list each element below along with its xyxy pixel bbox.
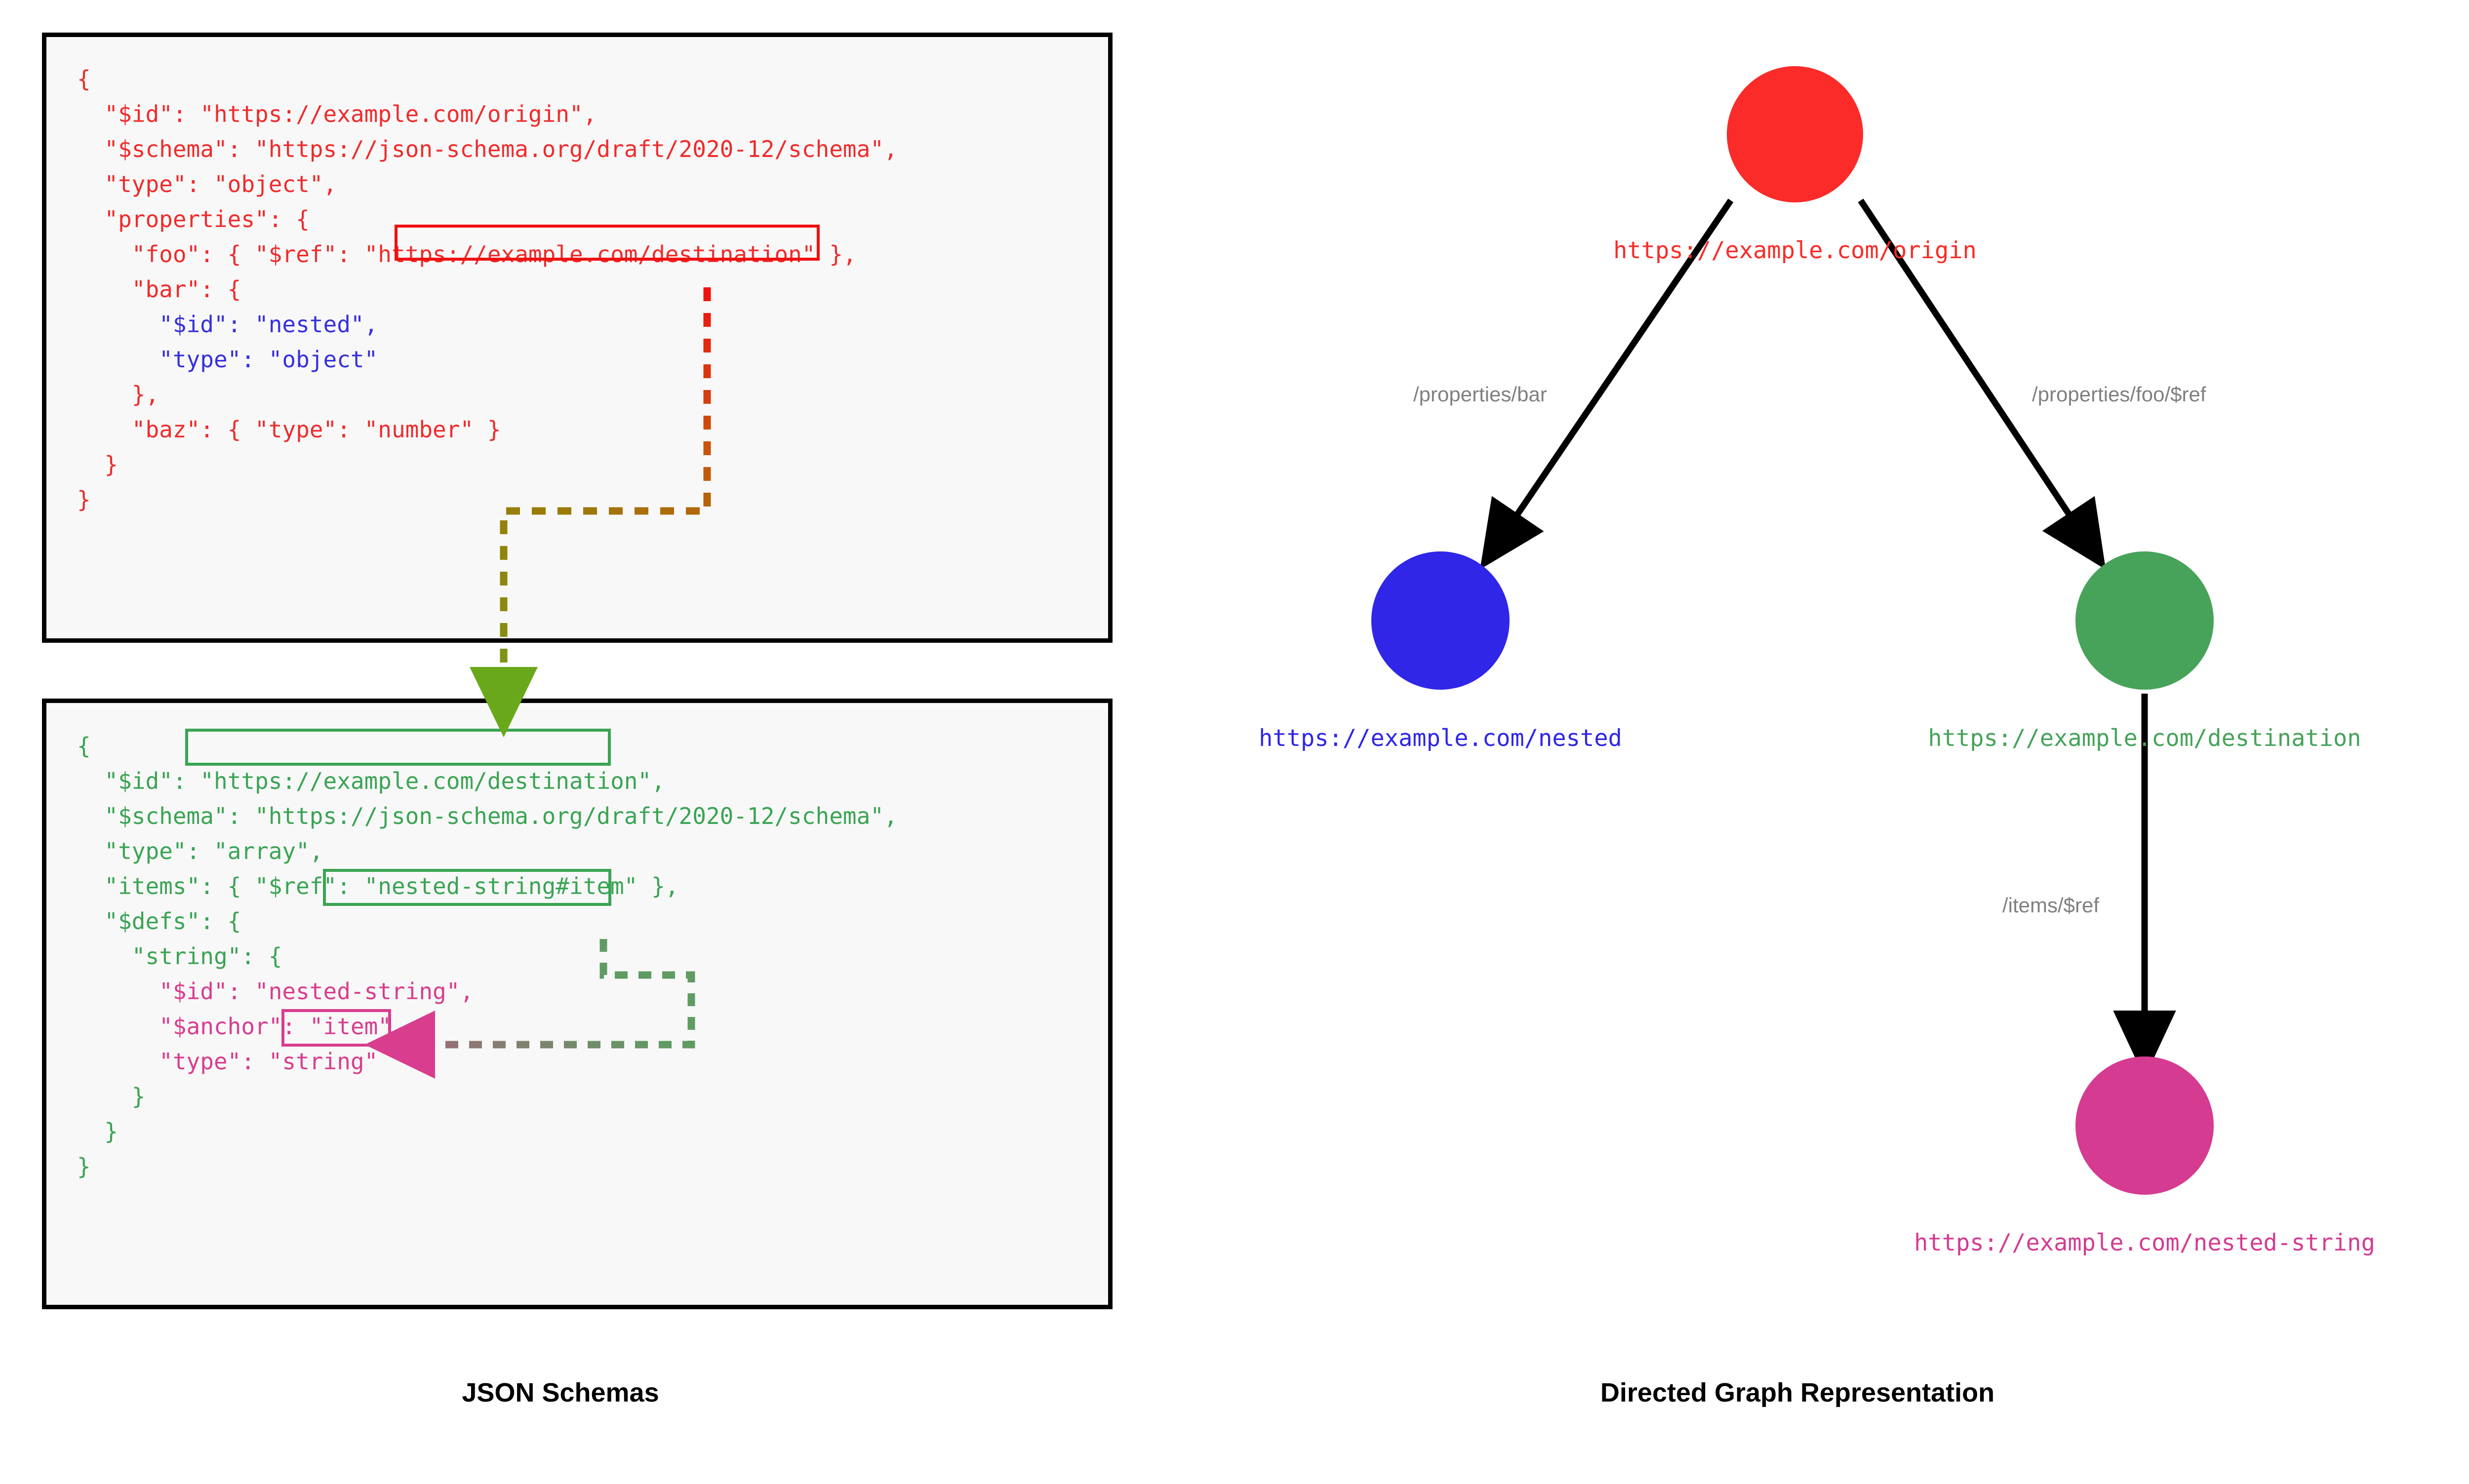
graph-edges	[1496, 200, 2145, 1049]
node-origin	[1727, 66, 1863, 202]
node-label-destination: https://example.com/destination	[1928, 725, 2361, 752]
node-nested-string	[2075, 1056, 2214, 1195]
edge-label-items-ref: /items/$ref	[2002, 894, 2099, 917]
caption-json-schemas: JSON Schemas	[462, 1377, 659, 1408]
connector-ref-to-anchor	[395, 939, 691, 1045]
caption-directed-graph: Directed Graph Representation	[1600, 1377, 1994, 1408]
node-nested	[1371, 551, 1510, 690]
edge-label-properties-bar: /properties/bar	[1413, 383, 1547, 406]
node-label-origin: https://example.com/origin	[1613, 237, 1977, 264]
graph-nodes	[1371, 66, 2214, 1195]
figure-canvas: { "$id": "https://example.com/origin", "…	[0, 0, 2469, 1484]
node-label-nested: https://example.com/nested	[1259, 725, 1622, 752]
node-label-nested-string: https://example.com/nested-string	[1914, 1229, 2375, 1256]
node-destination	[2075, 551, 2214, 690]
edge-label-properties-foo-ref: /properties/foo/$ref	[2032, 383, 2206, 406]
connector-ref-to-destination-id	[504, 287, 707, 707]
